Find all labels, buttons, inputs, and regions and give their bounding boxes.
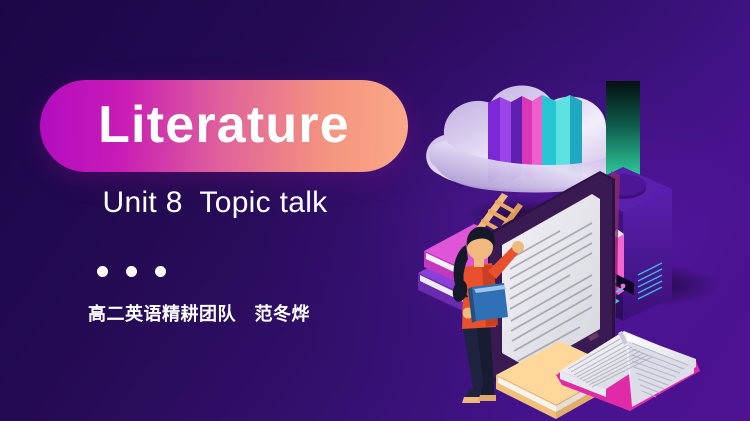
byline: 高二英语精耕团队 范冬烨 — [88, 300, 310, 326]
subtitle: Unit 8 Topic talk — [0, 186, 430, 220]
decoration-dot — [155, 266, 166, 277]
title-text-block: Literature Unit 8 Topic talk 高二英语精耕团队 范冬… — [0, 0, 430, 421]
decoration-dot — [126, 266, 137, 277]
decoration-dot — [97, 266, 108, 277]
page-title: Literature — [98, 99, 350, 151]
title-pill: Literature — [40, 80, 408, 172]
presentation-slide: Literature Unit 8 Topic talk 高二英语精耕团队 范冬… — [0, 0, 750, 421]
isometric-reading-illustration: book — [410, 55, 750, 421]
teal-beam — [606, 81, 640, 177]
dot-decoration — [97, 266, 166, 277]
